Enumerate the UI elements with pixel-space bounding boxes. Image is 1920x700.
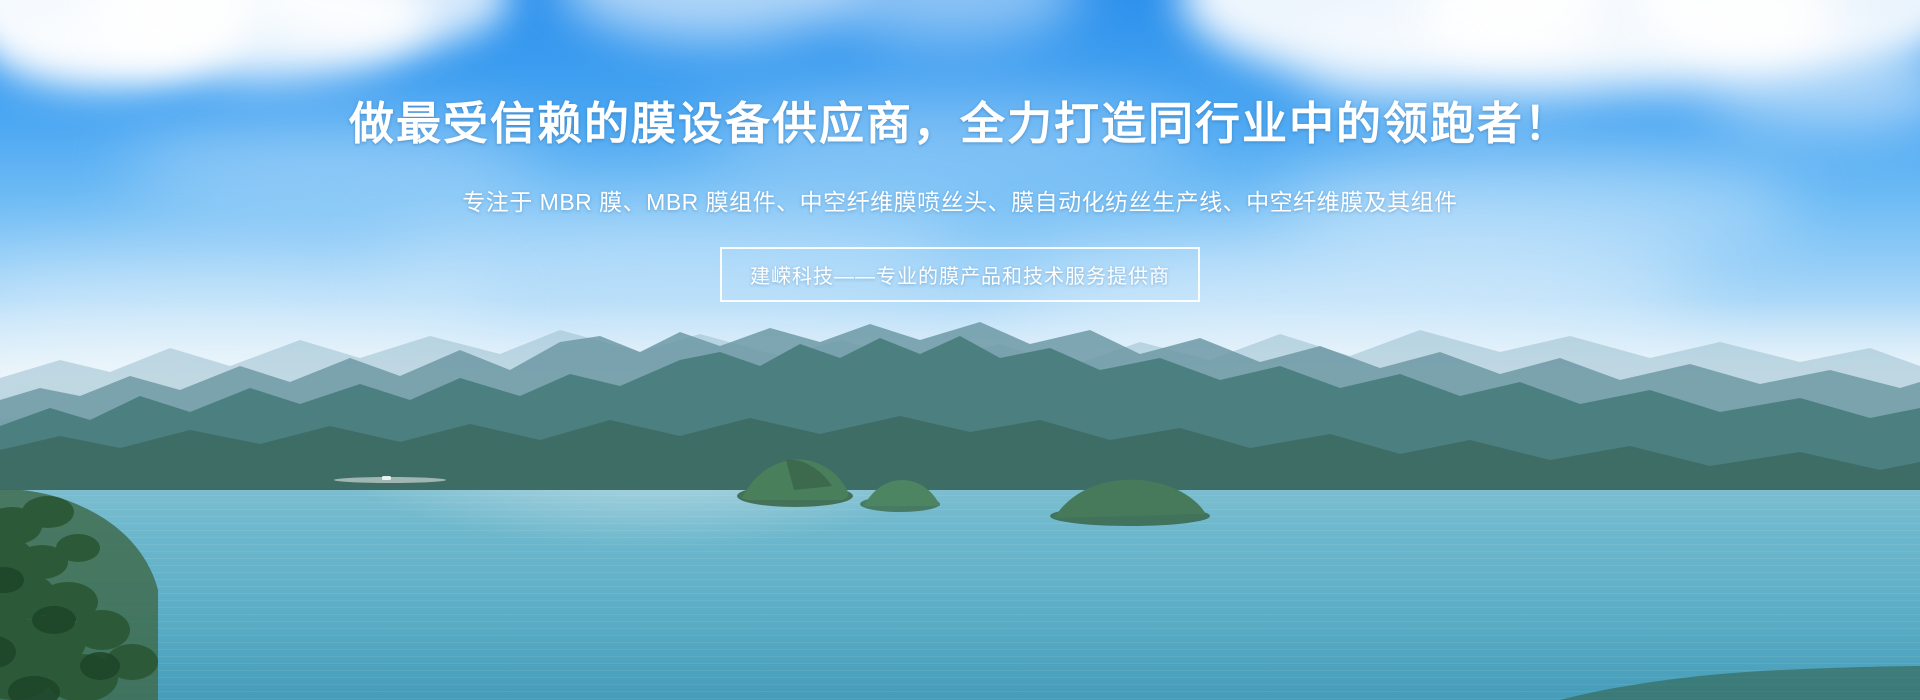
hero-banner: 做最受信赖的膜设备供应商，全力打造同行业中的领跑者！ 专注于 MBR 膜、MBR… <box>0 0 1920 700</box>
banner-subtitle: 专注于 MBR 膜、MBR 膜组件、中空纤维膜喷丝头、膜自动化纺丝生产线、中空纤… <box>462 183 1457 217</box>
banner-tagline-box: 建嵘科技——专业的膜产品和技术服务提供商 <box>720 247 1200 302</box>
banner-content: 做最受信赖的膜设备供应商，全力打造同行业中的领跑者！ 专注于 MBR 膜、MBR… <box>0 0 1920 700</box>
banner-headline: 做最受信赖的膜设备供应商，全力打造同行业中的领跑者！ <box>349 98 1571 150</box>
